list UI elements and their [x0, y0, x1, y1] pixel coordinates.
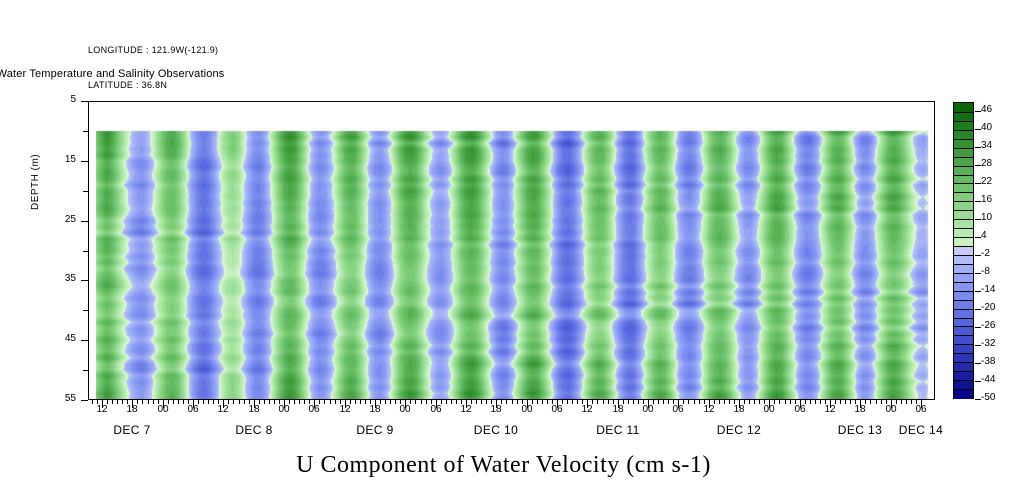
- colorbar-band-separator: [954, 380, 973, 381]
- y-axis-tick: [81, 280, 88, 281]
- colorbar-band-separator: [954, 166, 973, 167]
- x-axis-hour-label: 00: [390, 404, 420, 415]
- x-axis-hour-label: 18: [481, 404, 511, 415]
- colorbar-tick-label: -44: [981, 374, 995, 385]
- colorbar-band-separator: [954, 148, 973, 149]
- x-axis-hour-label: 06: [542, 404, 572, 415]
- x-axis-hour-label: 18: [360, 404, 390, 415]
- colorbar: [953, 102, 974, 399]
- x-axis-hour-label: 06: [785, 404, 815, 415]
- colorbar-band-separator: [954, 291, 973, 292]
- x-axis-hour-label: 18: [724, 404, 754, 415]
- colorbar-tick-label: 34: [981, 140, 992, 151]
- x-axis-hour-label: 06: [906, 404, 936, 415]
- colorbar-band-separator: [954, 309, 973, 310]
- colorbar-band-separator: [954, 362, 973, 363]
- colorbar-band-separator: [954, 157, 973, 158]
- colorbar-band-separator: [954, 255, 973, 256]
- colorbar-band-separator: [954, 130, 973, 131]
- colorbar-tick-label: -2: [981, 248, 990, 259]
- chart-title: Hourly Gridded MBARI Mooring M0 Sea Wate…: [0, 68, 1009, 80]
- colorbar-tick-label: -8: [981, 266, 990, 277]
- x-axis-hour-label: 12: [694, 404, 724, 415]
- x-axis-date-label: DEC 14: [876, 423, 966, 437]
- y-axis-label: 55: [36, 393, 76, 404]
- x-axis-hour-label: 12: [815, 404, 845, 415]
- colorbar-tick-label: 28: [981, 158, 992, 169]
- plot-caption: U Component of Water Velocity (cm s-1): [0, 452, 1009, 479]
- x-axis-hour-label: 00: [269, 404, 299, 415]
- y-axis-tick: [81, 161, 88, 162]
- plot-area: [88, 101, 935, 400]
- colorbar-band-separator: [954, 318, 973, 319]
- y-axis-tick: [81, 400, 88, 401]
- x-axis-hour-label: 06: [421, 404, 451, 415]
- y-axis-minor-tick: [83, 251, 88, 252]
- colorbar-band-separator: [954, 335, 973, 336]
- colorbar-tick-label: 4: [981, 230, 987, 241]
- x-axis-hour-label: 12: [572, 404, 602, 415]
- x-axis-hour-label: 12: [330, 404, 360, 415]
- x-axis-hour-label: 12: [208, 404, 238, 415]
- x-axis-date-label: DEC 10: [451, 423, 541, 437]
- colorbar-band-separator: [954, 264, 973, 265]
- y-axis-label: 25: [36, 214, 76, 225]
- colorbar-band-separator: [954, 183, 973, 184]
- colorbar-band-separator: [954, 273, 973, 274]
- y-axis-minor-tick: [83, 370, 88, 371]
- x-axis-hour-label: 00: [512, 404, 542, 415]
- chart-title-text: Hourly Gridded MBARI Mooring M0 Sea Wate…: [0, 68, 224, 80]
- colorbar-tick-label: -38: [981, 356, 995, 367]
- colorbar-tick-label: -26: [981, 320, 995, 331]
- y-axis-minor-tick: [83, 310, 88, 311]
- x-axis-hour-label: 00: [876, 404, 906, 415]
- latitude-line: LATITUDE : 36.8N: [88, 80, 218, 92]
- x-axis-date-label: DEC 9: [330, 423, 420, 437]
- colorbar-tick-label: 46: [981, 104, 992, 115]
- x-axis-date-label: DEC 8: [209, 423, 299, 437]
- y-axis-label: 5: [36, 94, 76, 105]
- colorbar-band-separator: [954, 371, 973, 372]
- x-axis-hour-label: 00: [148, 404, 178, 415]
- plot-caption-text: U Component of Water Velocity (cm s-1): [296, 452, 711, 478]
- colorbar-band: [954, 389, 973, 399]
- colorbar-tick-label: 40: [981, 122, 992, 133]
- x-axis-hour-label: 06: [299, 404, 329, 415]
- colorbar-band-separator: [954, 326, 973, 327]
- colorbar-band-separator: [954, 282, 973, 283]
- y-axis-minor-tick: [83, 131, 88, 132]
- colorbar-band-separator: [954, 246, 973, 247]
- y-axis-label: 15: [36, 154, 76, 165]
- longitude-line: LONGITUDE : 121.9W(-121.9): [88, 45, 218, 57]
- colorbar-band-separator: [954, 192, 973, 193]
- colorbar-tick-label: 10: [981, 212, 992, 223]
- colorbar-band-separator: [954, 353, 973, 354]
- colorbar-band-separator: [954, 344, 973, 345]
- x-axis-date-label: DEC 12: [694, 423, 784, 437]
- colorbar-band-separator: [954, 300, 973, 301]
- y-axis-tick: [81, 221, 88, 222]
- colorbar-band-separator: [954, 139, 973, 140]
- x-axis-hour-label: 00: [754, 404, 784, 415]
- colorbar-band-separator: [954, 210, 973, 211]
- velocity-heatmap: [89, 102, 934, 399]
- colorbar-tick-label: 16: [981, 194, 992, 205]
- x-axis-hour-label: 06: [663, 404, 693, 415]
- colorbar-band-separator: [954, 219, 973, 220]
- x-axis-hour-label: 06: [178, 404, 208, 415]
- x-axis-hour-label: 12: [87, 404, 117, 415]
- colorbar-tick-label: -14: [981, 284, 995, 295]
- y-axis-label: 45: [36, 333, 76, 344]
- x-axis-hour-label: 12: [451, 404, 481, 415]
- colorbar-tick-label: -20: [981, 302, 995, 313]
- colorbar-band-separator: [954, 112, 973, 113]
- colorbar-tick-label: 22: [981, 176, 992, 187]
- colorbar-band-separator: [954, 121, 973, 122]
- x-axis-hour-label: 18: [117, 404, 147, 415]
- x-axis-hour-label: 18: [603, 404, 633, 415]
- x-axis-hour-label: 18: [239, 404, 269, 415]
- colorbar-band-separator: [954, 389, 973, 390]
- y-axis-minor-tick: [83, 191, 88, 192]
- x-axis-hour-label: 18: [845, 404, 875, 415]
- x-axis-date-label: DEC 7: [87, 423, 177, 437]
- y-axis-tick: [81, 101, 88, 102]
- colorbar-band-separator: [954, 201, 973, 202]
- y-axis-tick: [81, 340, 88, 341]
- y-axis-label: 35: [36, 273, 76, 284]
- colorbar-band-separator: [954, 175, 973, 176]
- colorbar-band-separator: [954, 237, 973, 238]
- colorbar-band-separator: [954, 228, 973, 229]
- colorbar-tick-label: -32: [981, 338, 995, 349]
- x-axis-date-label: DEC 11: [573, 423, 663, 437]
- x-axis-hour-label: 00: [633, 404, 663, 415]
- colorbar-tick-label: -50: [981, 392, 995, 403]
